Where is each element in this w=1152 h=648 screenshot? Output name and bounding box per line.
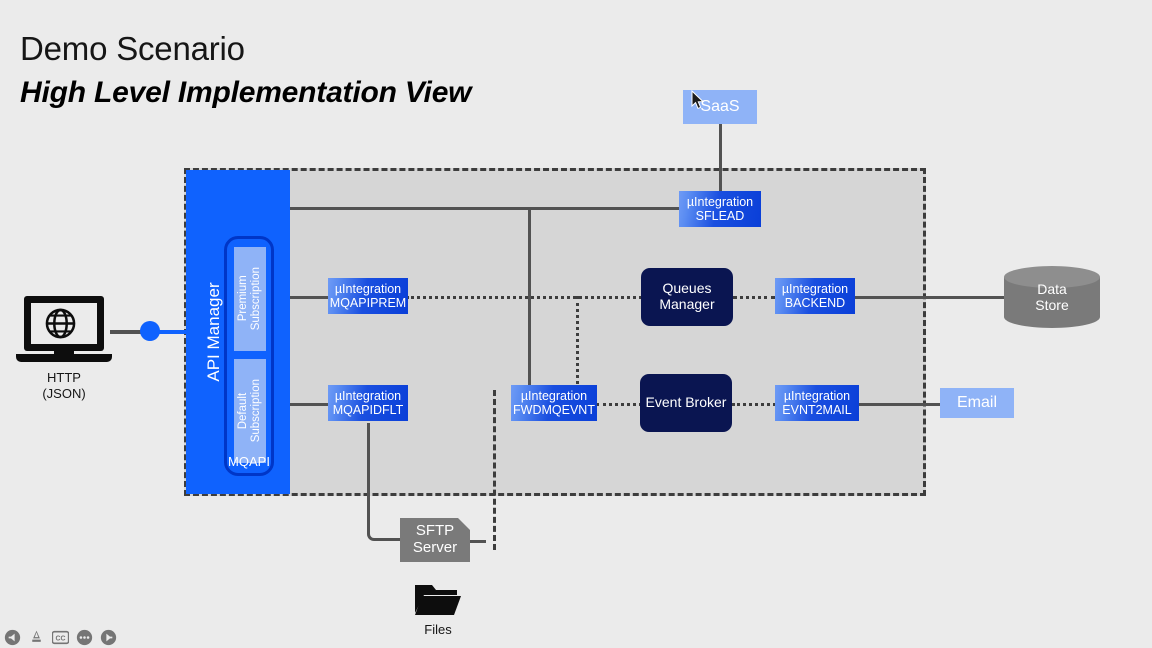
data-store-label-line1: Data — [1037, 281, 1067, 297]
email-label: Email — [957, 394, 997, 412]
saas-label: SaaS — [700, 98, 739, 116]
page-subtitle: High Level Implementation View — [20, 76, 471, 110]
forward-arrow-icon[interactable] — [100, 629, 117, 646]
integration-fwdmqevnt[interactable]: µIntegration FWDMQEVNT — [511, 385, 597, 421]
integration-mqapiprem-prefix: µIntegration — [335, 282, 401, 296]
sftp-server-label-line1: SFTP — [416, 523, 454, 540]
default-subscription-label: Default Subscription — [237, 379, 263, 442]
integration-mqapidflt[interactable]: µIntegration MQAPIDFLT — [328, 385, 408, 421]
annotate-pen-icon[interactable] — [28, 629, 45, 646]
integration-backend-name: BACKEND — [785, 296, 845, 310]
integration-fwdmqevnt-prefix: µIntegration — [521, 389, 587, 403]
mouse-cursor — [691, 90, 705, 115]
event-broker-label: Event Broker — [646, 395, 727, 411]
integration-fwdmqevnt-name: FWDMQEVNT — [513, 403, 595, 417]
integration-mqapiprem-name: MQAPIPREM — [330, 296, 406, 310]
svg-text:CC: CC — [55, 635, 65, 642]
data-store-node[interactable]: Data Store — [1004, 266, 1100, 328]
integration-sflead[interactable]: µIntegration SFLEAD — [679, 191, 761, 227]
queues-manager-label-line1: Queues — [662, 281, 711, 297]
bottom-toolbar: CC — [0, 626, 1152, 648]
event-broker-node[interactable]: Event Broker — [640, 374, 732, 432]
files-folder[interactable] — [414, 582, 462, 618]
more-options-icon[interactable] — [76, 629, 93, 646]
integration-mqapidflt-prefix: µIntegration — [335, 389, 401, 403]
premium-subscription-block[interactable]: Premium Subscription — [234, 247, 266, 351]
integration-sflead-prefix: µIntegration — [687, 195, 753, 209]
connector-mqapiprem-to-queues — [406, 296, 642, 299]
client-laptop[interactable] — [16, 296, 112, 362]
folder-icon — [414, 582, 462, 618]
connector-evnt2mail-to-email — [857, 403, 940, 406]
premium-subscription-label: Premium Subscription — [237, 267, 263, 330]
diagram-canvas: Demo Scenario High Level Implementation … — [0, 0, 1152, 648]
data-store-label: Data Store — [1004, 266, 1100, 328]
connector-backend-to-datastore — [855, 296, 1005, 299]
page-title: Demo Scenario — [20, 30, 245, 68]
closed-captions-icon[interactable]: CC — [52, 629, 69, 646]
queues-manager-label-line2: Manager — [659, 297, 714, 313]
connector-sftp-stub — [470, 540, 486, 543]
integration-sflead-name: SFLEAD — [696, 209, 745, 223]
data-store-label-line2: Store — [1035, 297, 1068, 313]
connector-endpoint-dot — [140, 321, 160, 341]
client-caption-json: (JSON) — [16, 386, 112, 403]
solution-boundary — [184, 168, 926, 496]
integration-evnt2mail-name: EVNT2MAIL — [782, 403, 851, 417]
connector-queues-to-backend — [733, 296, 775, 299]
integration-evnt2mail[interactable]: µIntegration EVNT2MAIL — [775, 385, 859, 421]
api-manager-label: API Manager — [204, 282, 224, 381]
integration-backend[interactable]: µIntegration BACKEND — [775, 278, 855, 314]
connector-saas-to-sflead — [719, 124, 722, 191]
sftp-server-node[interactable]: SFTP Server — [400, 518, 470, 562]
client-caption-http: HTTP — [16, 370, 112, 387]
mqapi-container[interactable]: Premium Subscription Default Subscriptio… — [224, 236, 274, 476]
integration-zone-separator — [493, 390, 496, 550]
connector-mqapi-to-sflead-horizontal — [268, 207, 681, 210]
back-arrow-icon[interactable] — [4, 629, 21, 646]
email-node[interactable]: Email — [940, 388, 1014, 418]
integration-backend-prefix: µIntegration — [782, 282, 848, 296]
globe-icon — [45, 308, 76, 344]
laptop-base — [16, 354, 112, 362]
integration-mqapiprem[interactable]: µIntegration MQAPIPREM — [328, 278, 408, 314]
integration-evnt2mail-prefix: µIntegration — [784, 389, 850, 403]
connector-fwdmqevnt-to-eventbroker — [596, 403, 642, 406]
mqapi-label: MQAPI — [227, 454, 271, 469]
connector-eventbroker-to-evnt2mail — [732, 403, 776, 406]
default-subscription-block[interactable]: Default Subscription — [234, 359, 266, 463]
queues-manager-node[interactable]: Queues Manager — [641, 268, 733, 326]
sftp-server-label-line2: Server — [413, 540, 457, 557]
integration-mqapidflt-name: MQAPIDFLT — [333, 403, 404, 417]
connector-mqapidflt-to-sftp-corner — [367, 423, 402, 541]
